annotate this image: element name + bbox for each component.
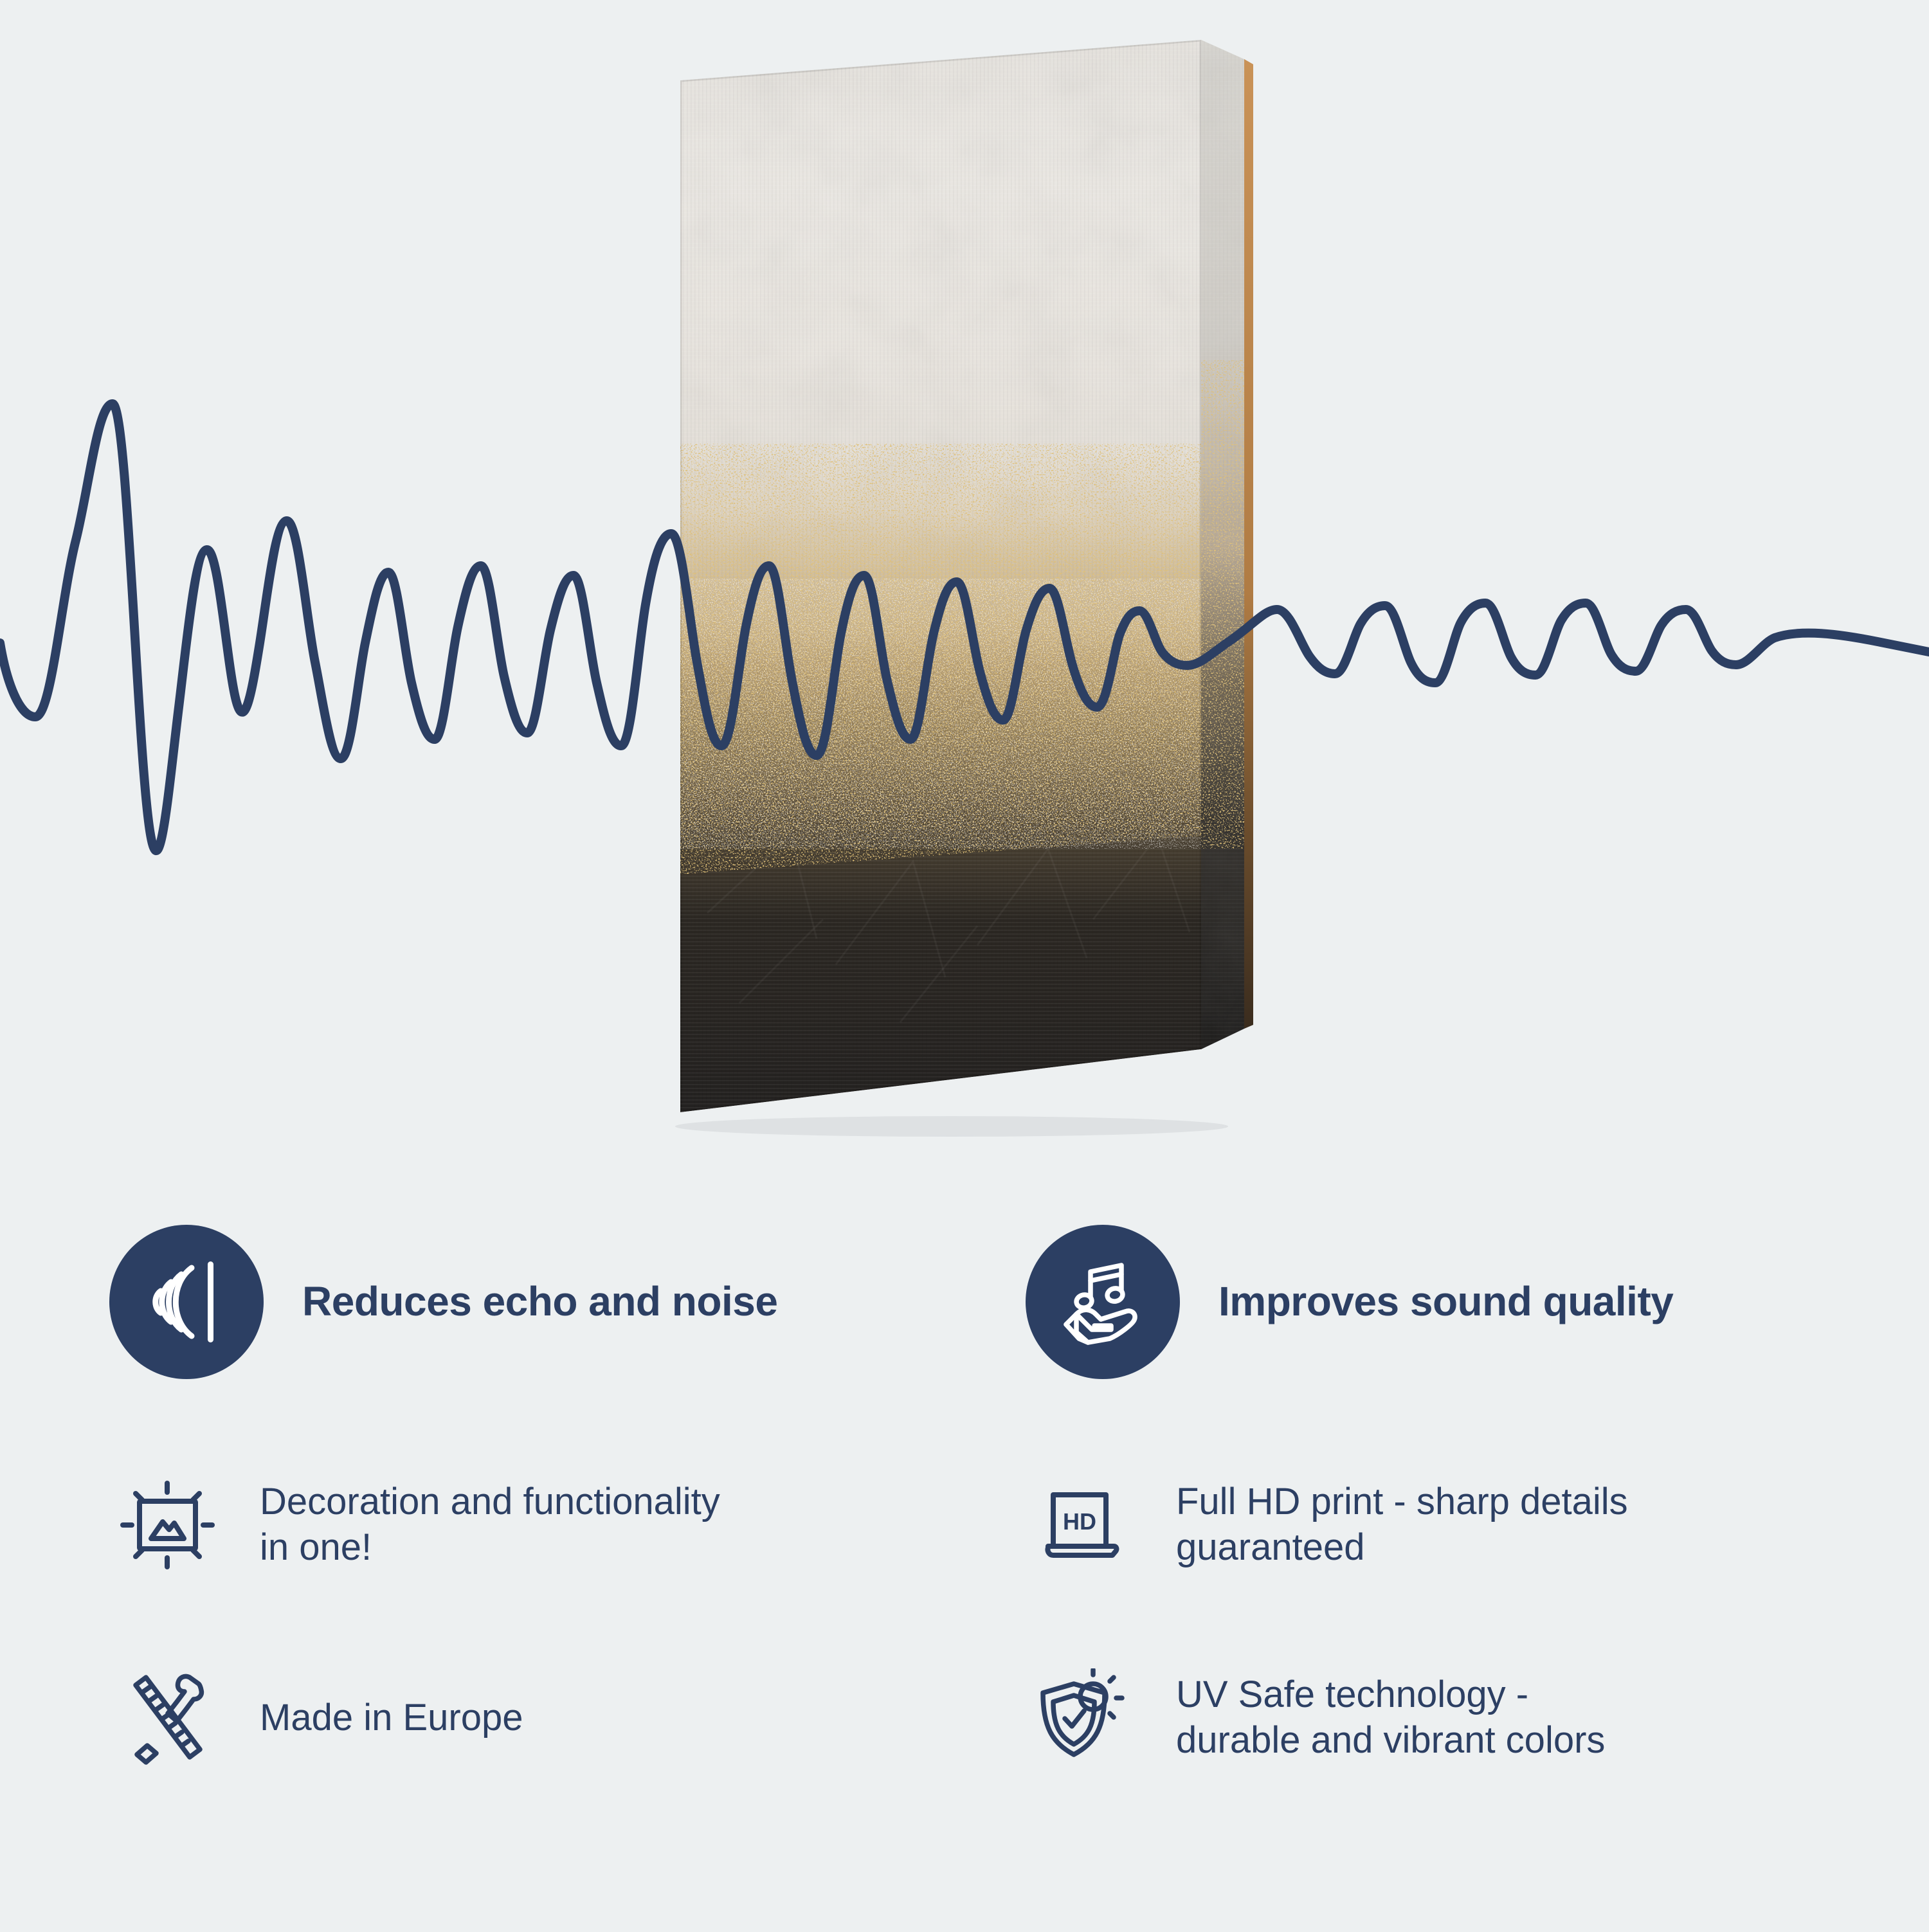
hd-screen-icon-wrap: HD	[1026, 1467, 1141, 1583]
framed-picture-icon-wrap	[109, 1467, 225, 1583]
feature-full-hd-print: HD Full HD print - sharp details guarant…	[1026, 1429, 1820, 1621]
section-spacer	[109, 1382, 1820, 1429]
hd-screen-icon: HD	[1034, 1476, 1134, 1575]
feature-reduces-echo: Reduces echo and noise	[109, 1222, 903, 1382]
canvas-wood-edge	[1244, 59, 1253, 1029]
feature-decoration-functionality: Decoration and functionality in one!	[109, 1429, 903, 1621]
feature-improves-sound: Improves sound quality	[1026, 1222, 1820, 1382]
feature-label-line1: Decoration and functionality	[260, 1481, 720, 1522]
shield-sun-icon	[1034, 1668, 1134, 1768]
infographic-stage: Reduces echo and noise	[0, 0, 1929, 1929]
feature-label: UV Safe technology - durable and vibrant…	[1176, 1672, 1605, 1764]
canvas-front-face	[669, 32, 1215, 1125]
feature-label: Reduces echo and noise	[302, 1278, 777, 1326]
sound-absorption-icon-badge	[109, 1225, 264, 1379]
feature-label-line1: Made in Europe	[260, 1697, 523, 1738]
canvas-side-face	[1196, 39, 1254, 1054]
feature-hero-grid: Reduces echo and noise	[109, 1222, 1820, 1382]
feature-label: Made in Europe	[260, 1695, 523, 1741]
feature-list: Reduces echo and noise	[0, 1222, 1929, 1929]
feature-label-line2: in one!	[260, 1525, 720, 1571]
feature-label-line2: durable and vibrant colors	[1176, 1718, 1605, 1764]
framed-picture-icon	[118, 1476, 217, 1575]
feature-secondary-grid: Decoration and functionality in one! HD	[109, 1429, 1820, 1814]
ruler-and-hammer-icon	[118, 1668, 217, 1768]
feature-label-line1: UV Safe technology -	[1176, 1674, 1528, 1715]
music-note-in-hand-icon	[1055, 1254, 1151, 1350]
feature-label-line1: Full HD print - sharp details	[1176, 1481, 1628, 1522]
sound-absorption-icon	[138, 1254, 235, 1350]
feature-uv-safe: UV Safe technology - durable and vibrant…	[1026, 1621, 1820, 1814]
feature-label: Decoration and functionality in one!	[260, 1479, 720, 1571]
feature-label: Improves sound quality	[1218, 1278, 1673, 1326]
ruler-and-hammer-icon-wrap	[109, 1660, 225, 1776]
shield-sun-icon-wrap	[1026, 1660, 1141, 1776]
hd-badge-text: HD	[1063, 1508, 1096, 1535]
feature-label: Full HD print - sharp details guaranteed	[1176, 1479, 1628, 1571]
feature-made-in-europe: Made in Europe	[109, 1621, 903, 1814]
music-note-in-hand-icon-badge	[1026, 1225, 1180, 1379]
wall-bar	[208, 1261, 213, 1342]
feature-label-line2: guaranteed	[1176, 1525, 1628, 1571]
